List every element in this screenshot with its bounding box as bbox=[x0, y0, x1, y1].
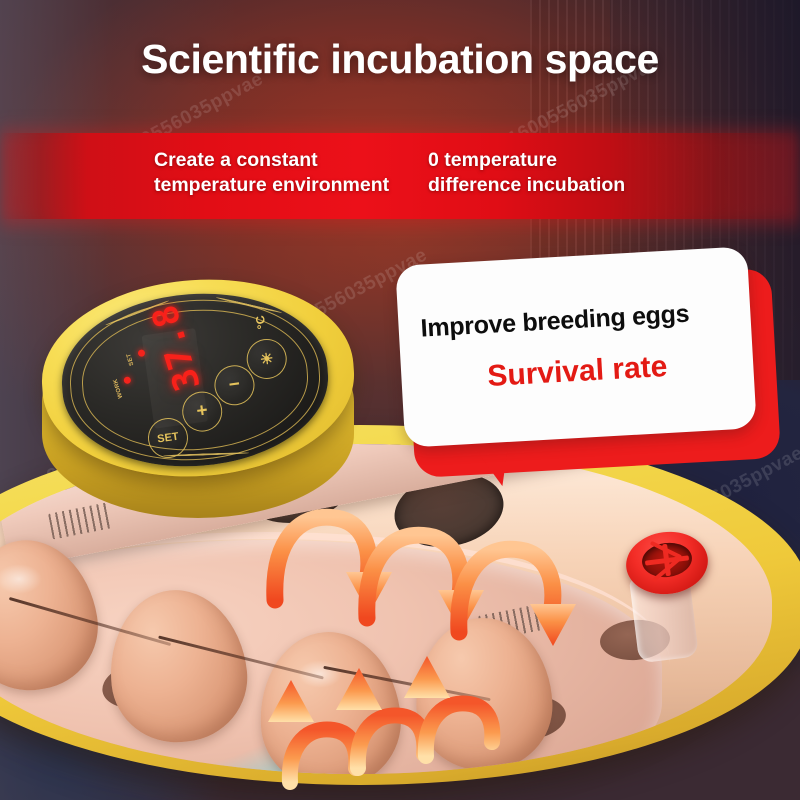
feature-banner-text: Create a constant temperature environmen… bbox=[0, 148, 800, 198]
banner-left-line-2: temperature environment bbox=[154, 173, 420, 198]
page-title: Scientific incubation space bbox=[0, 36, 800, 83]
banner-right-line-1: 0 temperature bbox=[428, 148, 668, 173]
product-marketing-banner: cn1600556035ppvae cn1600556035ppvae cn16… bbox=[0, 0, 800, 800]
callout-headline: Improve breeding eggs bbox=[420, 297, 729, 343]
temperature-unit: °C bbox=[253, 314, 269, 330]
banner-column-right: 0 temperature difference incubation bbox=[428, 148, 668, 198]
banner-column-left: Create a constant temperature environmen… bbox=[132, 148, 420, 198]
banner-right-line-2: difference incubation bbox=[428, 173, 668, 198]
callout-bubble-body: Improve breeding eggs Survival rate bbox=[395, 246, 757, 447]
callout-emphasis: Survival rate bbox=[423, 346, 732, 397]
banner-left-line-1: Create a constant bbox=[154, 148, 420, 173]
incubator-lid: 37.8 WORK SET °C ☀ − + SET bbox=[28, 272, 368, 522]
callout-bubble: Improve breeding eggs Survival rate bbox=[392, 248, 792, 488]
